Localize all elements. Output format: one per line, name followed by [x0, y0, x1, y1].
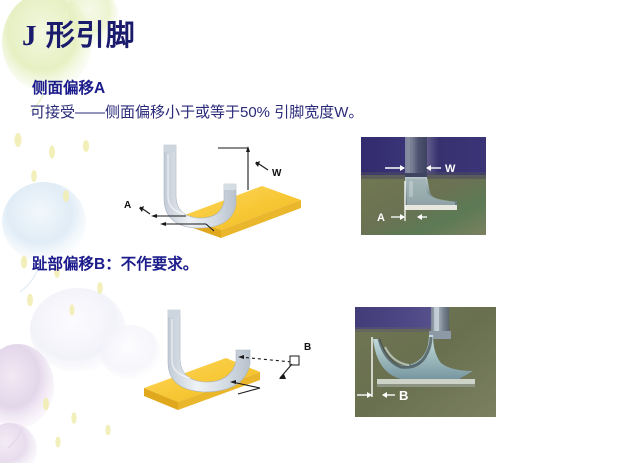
- page-title: J 形引脚: [22, 12, 136, 54]
- section-a-body: 可接受——侧面偏移小于或等于50% 引脚宽度W。: [30, 101, 363, 122]
- diagram-toe-offset: B: [108, 300, 316, 416]
- lead-shank: [405, 137, 427, 183]
- confetti-specks: [15, 133, 111, 448]
- diagram-side-offset: W A: [110, 134, 306, 246]
- photo-label-b: B: [399, 388, 408, 403]
- diagram-label-a: A: [124, 200, 131, 211]
- slide-canvas: J 形引脚 侧面偏移A 可接受——侧面偏移小于或等于50% 引脚宽度W。 趾部偏…: [0, 0, 619, 463]
- section-b-heading: 趾部偏移B：不作要求。: [32, 252, 198, 274]
- photo-side-offset: W A: [361, 137, 486, 235]
- diagram-label-w: W: [272, 168, 282, 179]
- dimension-w: [218, 146, 268, 190]
- solder-pad: [182, 186, 301, 238]
- photo-label-w: W: [445, 163, 456, 175]
- balloon-pink-bottom-left: [0, 344, 54, 463]
- photo-label-a: A: [377, 212, 385, 224]
- diagram-label-b: B: [304, 342, 311, 353]
- lead-shank: [429, 307, 451, 339]
- balloon-blue-mid-left: [2, 182, 86, 292]
- photo-toe-offset: B: [355, 307, 496, 417]
- section-a-heading: 侧面偏移A: [32, 76, 105, 98]
